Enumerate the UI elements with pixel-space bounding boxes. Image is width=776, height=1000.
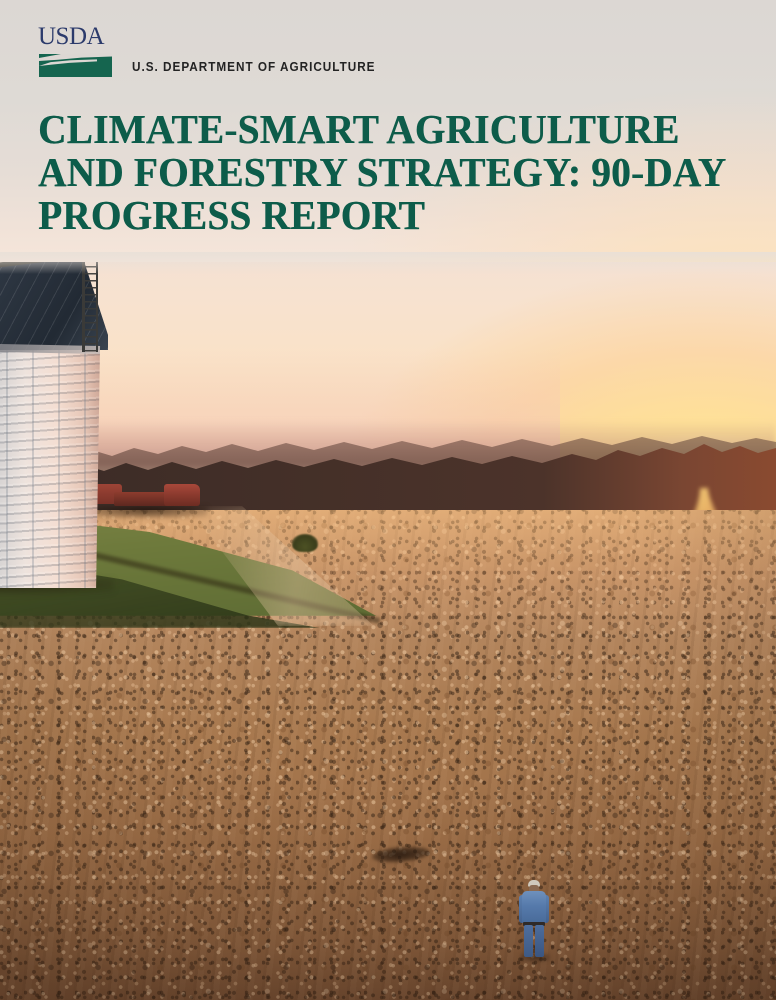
farmer-figure — [519, 880, 549, 958]
report-cover-page: USDA U.S. DEPARTMENT OF AGRICULTURE CLIM… — [0, 0, 776, 1000]
page-title: CLIMATE-SMART AGRICULTURE AND FORESTRY S… — [38, 108, 712, 237]
page-title-line-1: CLIMATE-SMART AGRICULTURE — [38, 108, 712, 151]
usda-wordmark: USDA — [38, 24, 104, 49]
department-name-label: U.S. DEPARTMENT OF AGRICULTURE — [132, 60, 376, 74]
field-bush — [292, 534, 318, 552]
farmer-leg-left — [524, 925, 533, 957]
usda-logo-icon: USDA — [38, 26, 116, 78]
page-title-line-2: AND FORESTRY STRATEGY: 90-DAY — [38, 151, 712, 194]
farmer-leg-right — [535, 925, 544, 957]
cover-photograph — [0, 238, 776, 1000]
silo-panel-seams — [0, 338, 100, 588]
page-title-line-3: PROGRESS REPORT — [38, 194, 712, 237]
usda-logo-row: USDA U.S. DEPARTMENT OF AGRICULTURE — [38, 22, 391, 78]
grain-bin-silo — [0, 258, 204, 588]
farmer-shirt — [522, 891, 546, 924]
